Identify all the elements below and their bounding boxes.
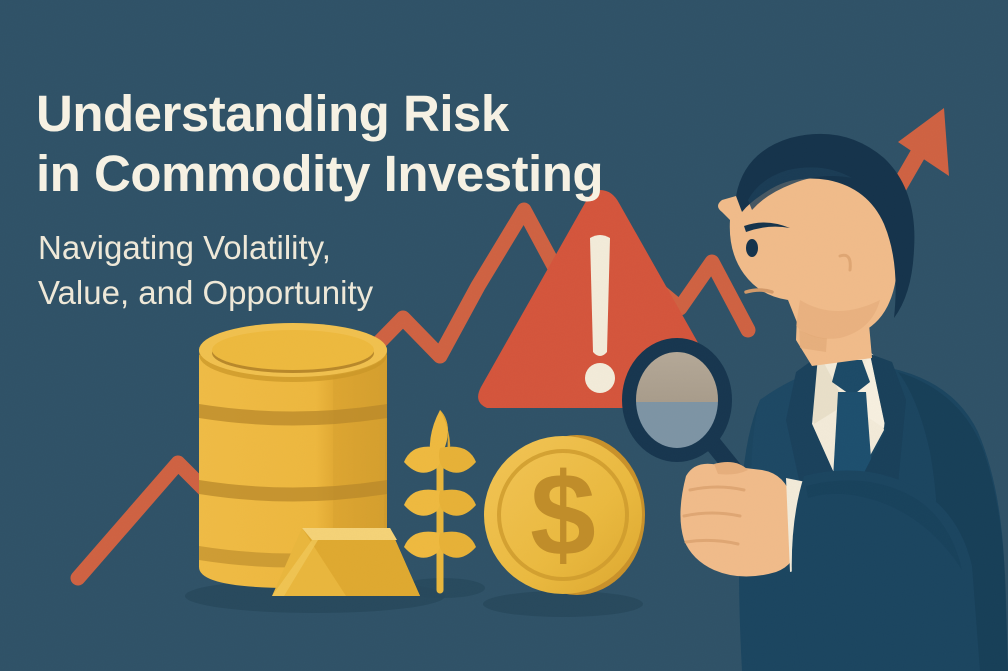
- grain-overlay: [0, 0, 1008, 671]
- illustration-svg: $: [0, 0, 1008, 671]
- poster-canvas: $: [0, 0, 1008, 671]
